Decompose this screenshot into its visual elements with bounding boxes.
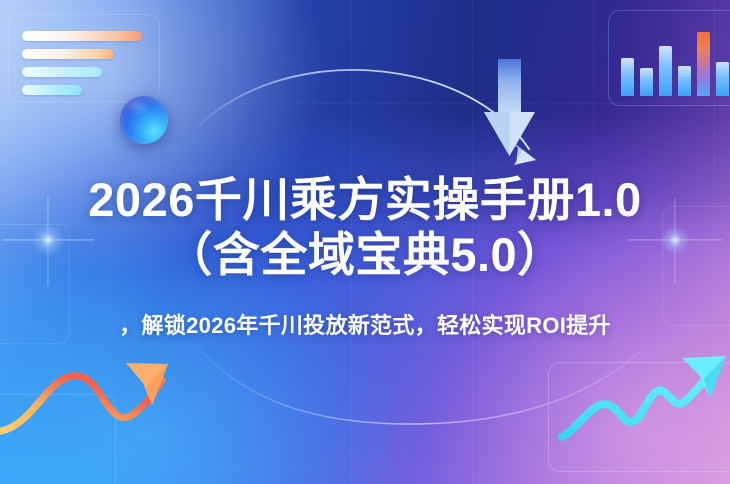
promo-poster: 2026千川乘方实操手册1.0 （含全域宝典5.0） ，解锁2026年千川投放新… (0, 0, 730, 484)
glow-bottom-right (430, 254, 730, 484)
mini-bar-4 (678, 66, 691, 96)
headline-line-2: （含全域宝典5.0） (0, 227, 730, 282)
bar-4 (22, 85, 82, 95)
mini-bar-2 (640, 68, 653, 96)
page-title: 2026千川乘方实操手册1.0 （含全域宝典5.0） (0, 172, 730, 282)
bar-1 (22, 31, 142, 41)
bar-2 (22, 49, 114, 59)
bar-3 (22, 67, 102, 77)
decorative-bars (22, 31, 142, 103)
headline-line-1: 2026千川乘方实操手册1.0 (88, 173, 641, 226)
mini-bar-chart (621, 24, 730, 96)
mini-bar-5-highlight (697, 32, 710, 96)
blue-sphere-icon (120, 96, 168, 144)
mini-bar-1 (621, 58, 634, 96)
mini-bar-3 (659, 46, 672, 96)
mini-bar-6 (716, 62, 729, 96)
page-subtitle: ，解锁2026年千川投放新范式，轻松实现ROI提升 (0, 308, 730, 340)
